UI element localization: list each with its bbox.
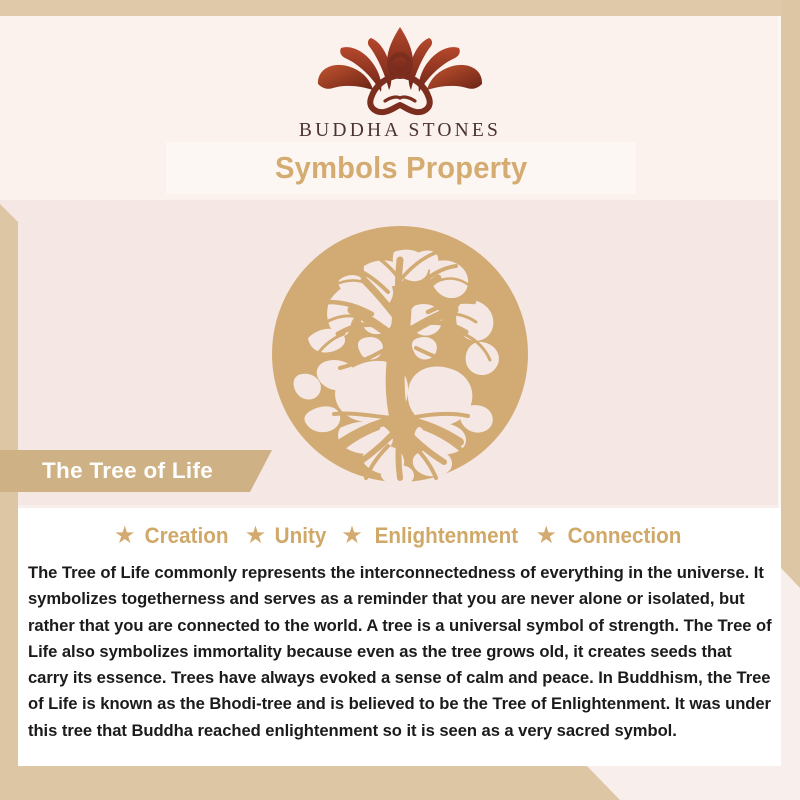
keyword-item-connection: ★ Connection — [536, 523, 686, 549]
keyword-item-enlightenment: ★ Enlightenment — [341, 523, 522, 549]
keyword-item-creation: ★ Creation — [114, 523, 232, 549]
frame-top-bar — [0, 0, 800, 16]
keyword-label: Unity — [275, 523, 327, 549]
tree-of-life-icon — [268, 222, 532, 486]
keyword-label: Creation — [145, 523, 229, 549]
keyword-list: ★ Creation ★ Unity ★ Enlightenment ★ Con… — [18, 508, 781, 556]
star-icon: ★ — [536, 524, 558, 548]
star-icon: ★ — [341, 524, 363, 548]
star-icon: ★ — [114, 524, 136, 548]
page-title: Symbols Property — [275, 150, 527, 186]
keyword-label: Enlightenment — [374, 523, 518, 549]
description-card: ★ Creation ★ Unity ★ Enlightenment ★ Con… — [18, 508, 781, 766]
infographic-page: BUDDHA STONES Symbols Property — [0, 0, 800, 800]
title-banner: Symbols Property — [166, 142, 636, 194]
frame-bottom-bar — [0, 764, 620, 800]
star-icon: ★ — [245, 524, 267, 548]
symbol-name-label: The Tree of Life — [42, 458, 213, 484]
description-text: The Tree of Life commonly represents the… — [28, 560, 772, 744]
keyword-label: Connection — [568, 523, 682, 549]
brand-logo: BUDDHA STONES — [0, 22, 800, 142]
keyword-item-unity: ★ Unity — [245, 523, 329, 549]
brand-name: BUDDHA STONES — [0, 120, 800, 142]
lotus-meditation-icon — [305, 22, 495, 118]
symbol-name-ribbon: The Tree of Life — [0, 450, 272, 492]
